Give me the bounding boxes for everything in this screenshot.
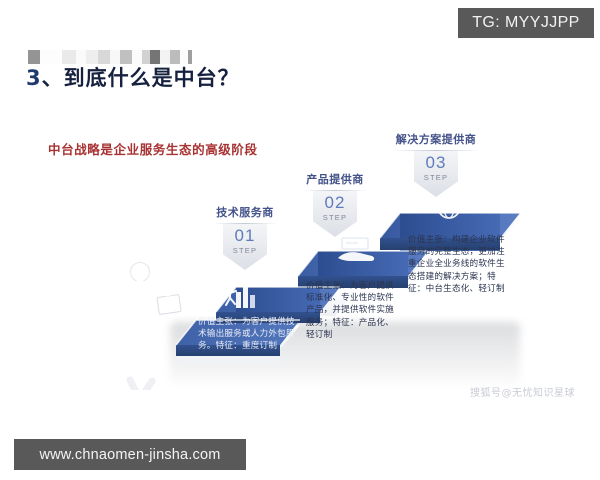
step-badge-02[interactable]: 产品提供商 02 STEP xyxy=(303,171,367,237)
step-caption-01: 技术服务商 xyxy=(213,204,277,220)
staircase-diagram xyxy=(0,120,600,390)
step-word-02: STEP xyxy=(313,213,357,222)
businessman-figure xyxy=(124,263,181,391)
step-caption-02: 产品提供商 xyxy=(303,171,367,187)
step-number-03: 03 xyxy=(414,153,458,173)
step-body-02: 价值主张：为客户提供标准化、专业性的软件产品，并提供软件实施服务；特征：产品化、… xyxy=(306,280,400,341)
slide-canvas: TG: MYYJJPP 3、到底什么是中台？ 中台战略是企业服务生态的高级阶段 xyxy=(0,0,600,480)
url-watermark-bar: www.chnaomen-jinsha.com xyxy=(14,439,246,470)
step-pointer-02: 02 STEP xyxy=(313,191,357,237)
step-body-01: 价值主张：为客户提供技术输出服务或人力外包服务。特征：重度订制 xyxy=(198,316,298,353)
step-rule-03 xyxy=(391,150,481,151)
step-word-03: STEP xyxy=(414,173,458,182)
step-pointer-01: 01 STEP xyxy=(223,224,267,270)
step-number-02: 02 xyxy=(313,193,357,213)
step-body-03: 价值主张：构建企业软件服务的完整生态，更加注重企业全业务线的软件生态搭建的解决方… xyxy=(408,234,508,295)
page-title: 3、到底什么是中台？ xyxy=(26,62,240,92)
step-caption-03: 解决方案提供商 xyxy=(391,131,481,147)
url-watermark-label: www.chnaomen-jinsha.com xyxy=(39,447,220,463)
step-rule-01 xyxy=(213,223,277,224)
step-number-01: 01 xyxy=(223,226,267,246)
step-pointer-03: 03 STEP xyxy=(414,151,458,197)
step-rule-02 xyxy=(303,190,367,191)
page-title-text: 、到底什么是中台？ xyxy=(42,66,240,90)
page-title-number: 3 xyxy=(26,66,42,90)
step-badge-03[interactable]: 解决方案提供商 03 STEP xyxy=(391,131,481,197)
tg-watermark-badge: TG: MYYJJPP xyxy=(458,8,594,38)
tg-badge-label: TG: MYYJJPP xyxy=(472,14,580,32)
step-word-01: STEP xyxy=(223,246,267,255)
sohu-watermark: 搜狐号@无忧知识星球 xyxy=(470,384,575,399)
hand-card-icon xyxy=(338,238,374,261)
step-badge-01[interactable]: 技术服务商 01 STEP xyxy=(213,204,277,270)
